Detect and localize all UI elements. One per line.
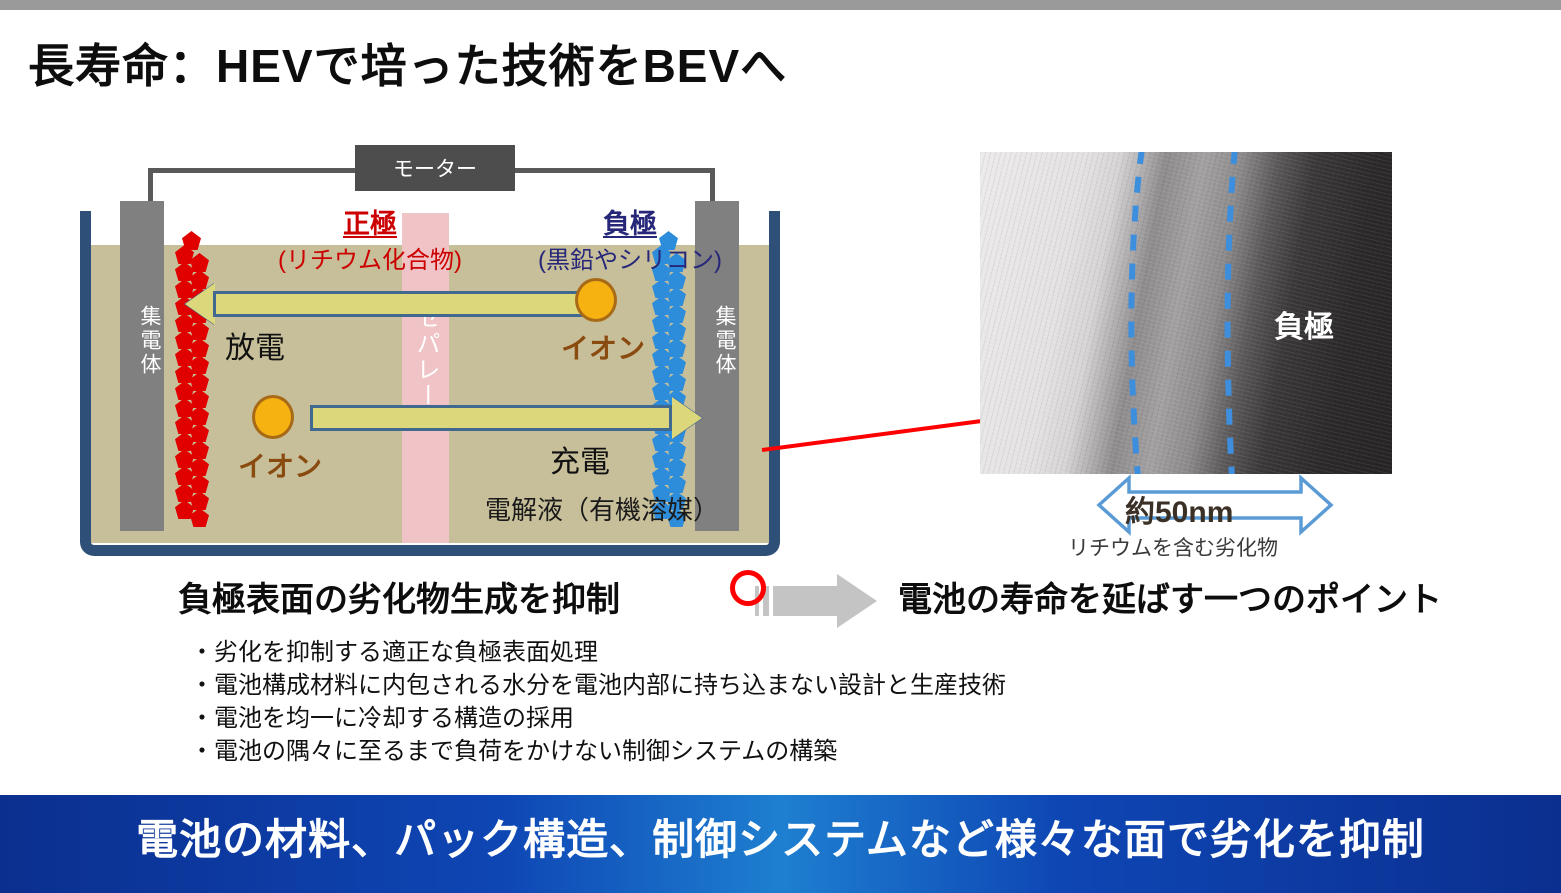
electrolyte-label: 電解液（有機溶媒） xyxy=(485,490,719,527)
top-gray-bar xyxy=(0,0,1561,10)
current-collector-right-label: 集電体 xyxy=(695,305,739,377)
positive-electrode-label: 正極 xyxy=(260,202,480,241)
discharge-label: 放電 xyxy=(225,323,285,367)
ion-label-bottom: イオン xyxy=(238,445,322,485)
transition-arrow-icon xyxy=(755,572,885,630)
slide-root: 長寿命：HEVで培った技術をBEVへ モーター 集電体 集電体 セパレータ 正極… xyxy=(0,0,1561,893)
ion-particle-bottom xyxy=(252,395,294,439)
ion-label-top: イオン xyxy=(561,327,645,367)
charge-arrow-head xyxy=(672,397,702,439)
negative-electrode-particles xyxy=(652,245,688,530)
list-item: ・電池構成材料に内包される水分を電池内部に持ち込まない設計と生産技術 xyxy=(190,669,1006,702)
page-title: 長寿命：HEVで培った技術をBEVへ xyxy=(28,30,787,96)
tem-micrograph: 負極 xyxy=(980,152,1392,474)
highlight-circle xyxy=(730,570,766,606)
scale-value-label: 約50nm xyxy=(1125,487,1233,531)
charge-arrow-shaft xyxy=(310,405,672,431)
circuit-wire-left xyxy=(148,168,358,173)
charge-arrow xyxy=(310,405,702,431)
negative-electrode-label: 負極 xyxy=(520,202,740,241)
summary-right-heading: 電池の寿命を延ばす一つのポイント xyxy=(898,572,1442,621)
degradation-caption: リチウムを含む劣化物 xyxy=(1068,532,1278,562)
tem-negative-electrode-label: 負極 xyxy=(1274,302,1334,346)
discharge-arrow-shaft xyxy=(213,291,585,317)
battery-schematic: モーター 集電体 集電体 セパレータ 正極 (リチウム化合物) 負極 (黒鉛やシ… xyxy=(80,145,780,560)
discharge-arrow xyxy=(185,291,585,317)
charge-label: 充電 xyxy=(550,437,610,481)
bottom-banner-text: 電池の材料、パック構造、制御システムなど様々な面で劣化を抑制 xyxy=(0,806,1561,867)
ion-particle-top xyxy=(575,278,617,322)
circuit-wire-right xyxy=(512,168,715,173)
current-collector-left-label: 集電体 xyxy=(120,305,164,377)
list-item: ・電池を均一に冷却する構造の採用 xyxy=(190,702,1006,735)
list-item: ・電池の隅々に至るまで負荷をかけない制御システムの構築 xyxy=(190,735,1006,768)
discharge-arrow-head xyxy=(185,283,215,325)
summary-left-heading: 負極表面の劣化物生成を抑制 xyxy=(178,572,620,621)
motor-box: モーター xyxy=(355,145,515,191)
list-item: ・劣化を抑制する適正な負極表面処理 xyxy=(190,636,1006,669)
bullet-list: ・劣化を抑制する適正な負極表面処理 ・電池構成材料に内包される水分を電池内部に持… xyxy=(190,636,1006,768)
negative-electrode-material: (黒鉛やシリコン) xyxy=(475,240,785,275)
